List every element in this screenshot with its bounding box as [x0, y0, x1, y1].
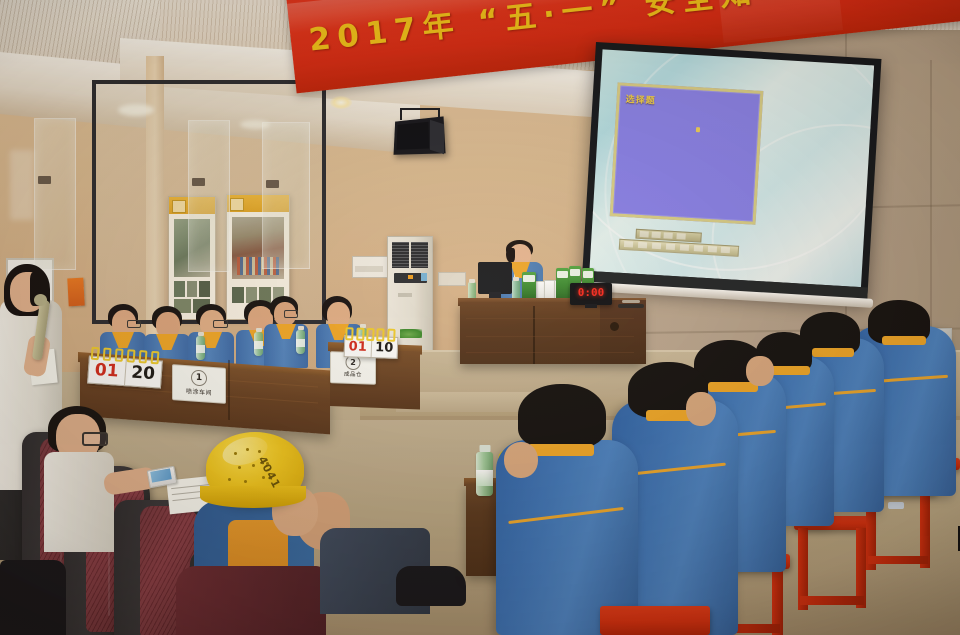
microphone-head — [34, 294, 47, 306]
score-flipcard-team1[interactable]: 01 20 — [87, 356, 161, 387]
worker-collar — [882, 336, 926, 345]
stool-leg — [868, 556, 928, 564]
auditorium-seat — [0, 560, 66, 635]
worker-hand — [686, 392, 716, 426]
wall-control-box-inset — [355, 266, 383, 272]
table-seam — [228, 360, 230, 420]
timer-digits: 0:00 — [574, 286, 608, 299]
podium-right-wing — [600, 300, 646, 364]
glass-partition-panel — [188, 120, 230, 272]
wood-grain — [466, 318, 634, 319]
glass-reflection — [10, 150, 34, 220]
glass-hinge — [192, 178, 205, 186]
team-nameplate: 1 喷涂车间 — [172, 364, 226, 404]
worker-collar — [812, 348, 854, 357]
eyeglasses-icon — [82, 432, 108, 446]
worker-hand — [504, 442, 538, 478]
water-bottle — [296, 330, 305, 354]
score-flipcard-team2[interactable]: 01 10 — [344, 335, 397, 357]
ac-status-led — [408, 275, 413, 279]
team-name: 喷涂车间 — [173, 385, 225, 398]
red-stool — [600, 606, 710, 635]
slide-content-panel: 选择题 — [610, 82, 764, 224]
gift-box — [556, 268, 569, 300]
desk-pen — [618, 304, 644, 308]
host-hair-side — [506, 248, 515, 263]
glass-partition-panel — [34, 118, 76, 270]
bottle-cap — [513, 277, 519, 281]
podium-seam — [533, 306, 535, 364]
slide-title: 选择题 — [625, 92, 656, 107]
orange-sign-card — [67, 278, 84, 307]
ceiling-light-fixture — [192, 2, 295, 22]
slide-cursor — [696, 127, 700, 132]
wood-grain — [466, 352, 634, 353]
decorative-plant — [400, 329, 422, 338]
gift-box — [522, 272, 536, 300]
projection-screen: 选择题 — [580, 42, 881, 321]
bottle-cap — [469, 279, 475, 283]
ac-logo — [398, 293, 412, 297]
glass-partition-panel — [262, 122, 310, 269]
poster-logo-badge — [230, 198, 244, 211]
ac-brand-badge — [421, 273, 427, 281]
stool-leg — [800, 596, 864, 605]
gift-label — [557, 271, 568, 278]
water-bottle — [254, 332, 263, 356]
podium-cable-hole — [610, 322, 619, 331]
worker-collar — [770, 366, 810, 375]
shoe — [396, 566, 466, 606]
gift-label — [583, 271, 593, 278]
photo-scene: 2017年 “五·一” 安全知 选择题 — [0, 0, 960, 635]
gift-label — [523, 275, 535, 282]
water-bottle — [476, 452, 493, 496]
gift-label — [570, 269, 580, 276]
poster-photo-strip — [174, 281, 210, 297]
speaker-side — [430, 120, 444, 155]
wall-panel-seam — [930, 60, 932, 360]
team-number: 1 — [191, 369, 207, 386]
projected-slide: 选择题 — [589, 49, 874, 287]
desk-item — [622, 300, 640, 303]
wood-grain — [466, 336, 634, 337]
glass-hinge — [266, 180, 279, 188]
worker-hand — [746, 356, 774, 386]
podium-monitor[interactable] — [478, 262, 512, 294]
wall-outlet-panel — [438, 272, 466, 286]
water-bottle — [196, 336, 205, 360]
seat-front — [176, 566, 326, 635]
ac-grille-divider — [409, 242, 411, 268]
worker-hair — [518, 384, 606, 448]
glass-hinge — [38, 176, 51, 184]
worker-collar — [528, 444, 594, 456]
helmet-brim — [200, 486, 306, 508]
speaker-cone — [396, 122, 429, 150]
timer-stand — [585, 304, 597, 308]
team-name: 成品仓 — [331, 369, 375, 379]
poster-logo-badge — [172, 200, 186, 213]
audience-body — [44, 452, 114, 552]
glass-reflection — [118, 104, 154, 116]
glass-reflection — [240, 120, 270, 129]
flipcard-rings — [344, 327, 396, 342]
recessed-downlight — [330, 96, 352, 109]
stool-brand-badge — [888, 502, 904, 509]
